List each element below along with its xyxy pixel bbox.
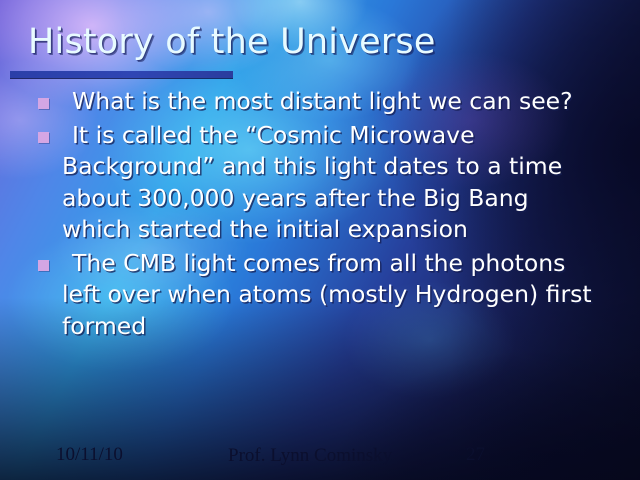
title-underline-bar xyxy=(10,71,233,78)
bullet-item: What is the most distant light we can se… xyxy=(34,86,594,118)
bullet-text: The CMB light comes from all the photons… xyxy=(62,248,594,343)
footer-date: 10/11/10 xyxy=(56,444,123,466)
footer-author: Prof. Lynn Cominsky xyxy=(228,444,398,468)
bullet-item: It is called the “Cosmic Microwave Backg… xyxy=(34,120,594,246)
presentation-slide: History of the Universe What is the most… xyxy=(0,0,640,480)
bullet-text: What is the most distant light we can se… xyxy=(62,86,594,118)
bullet-square-icon xyxy=(38,132,49,143)
footer-page-number: 27 xyxy=(466,444,485,466)
bullet-text: It is called the “Cosmic Microwave Backg… xyxy=(62,120,594,246)
slide-footer: 10/11/10 Prof. Lynn Cominsky 27 xyxy=(0,440,640,480)
bullet-square-icon xyxy=(38,98,49,109)
bullet-square-icon xyxy=(38,260,49,271)
slide-body: What is the most distant light we can se… xyxy=(34,86,594,344)
bullet-item: The CMB light comes from all the photons… xyxy=(34,248,594,343)
slide-title: History of the Universe xyxy=(28,22,608,62)
